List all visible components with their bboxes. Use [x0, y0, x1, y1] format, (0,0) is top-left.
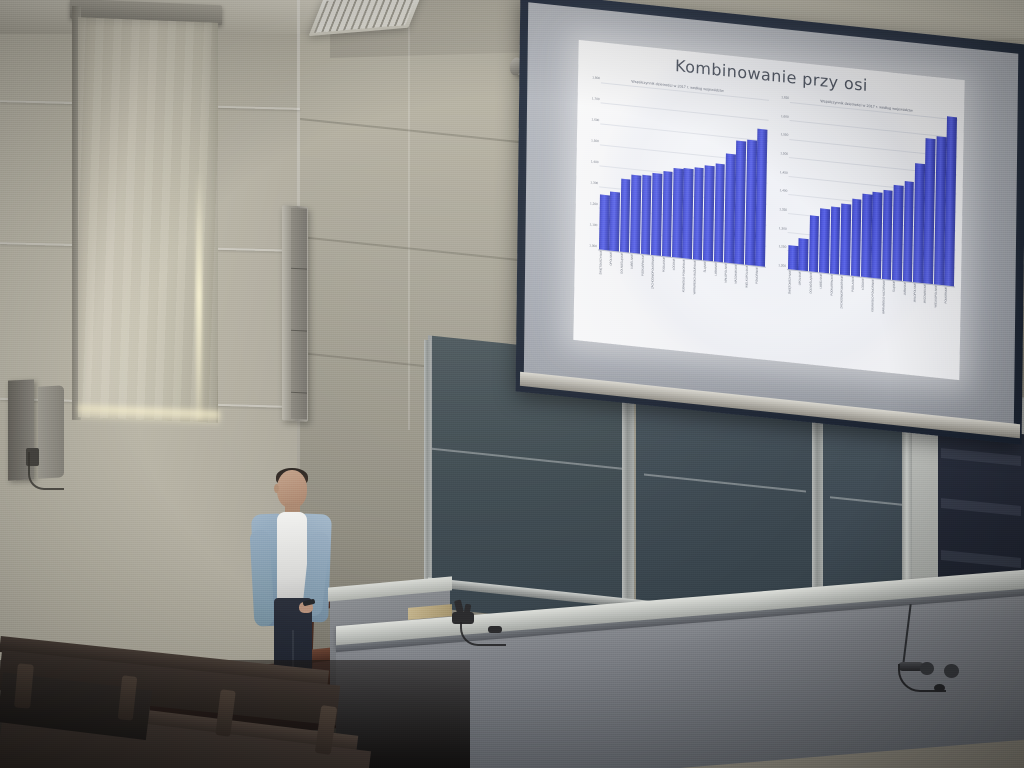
x-tick-label: ŁÓDZKIE	[671, 258, 682, 317]
bar	[755, 129, 767, 267]
presenter-ear	[274, 484, 279, 493]
chart-left-bars	[598, 82, 769, 266]
bar	[693, 167, 704, 260]
x-tick-label: MAŁOPOLSKIE	[723, 263, 734, 322]
x-tick-label: PODKARPACKIE	[829, 274, 840, 333]
bar	[830, 207, 841, 275]
bar	[788, 245, 798, 270]
x-tick-label: MAZOWIECKIE	[733, 265, 744, 324]
y-tick-label: 1,550	[781, 132, 789, 137]
x-tick-label: KUJAWSKO-POMORSKIE	[681, 259, 692, 318]
y-tick-label: 1,100	[590, 222, 598, 227]
window-light-glow	[196, 170, 202, 420]
lecture-hall-photo: Kombinowanie przy osi Współczynnik dziet…	[0, 0, 1024, 768]
bar	[798, 239, 808, 272]
x-tick-label: ŁÓDZKIE	[860, 278, 871, 337]
x-tick-label: PODLASKIE	[849, 277, 860, 336]
bar	[672, 168, 683, 258]
y-tick-label: 1,400	[591, 159, 599, 164]
x-tick-label: MAŁOPOLSKIE	[912, 283, 923, 342]
x-tick-label: MAZOWIECKIE	[922, 284, 933, 343]
x-tick-label: OPOLSKIE	[797, 271, 808, 330]
x-tick-label: WARMIŃSKO-MAZURSKIE	[692, 260, 703, 319]
y-tick-label: 1,600	[592, 117, 600, 122]
y-tick-label: 1,500	[591, 138, 599, 143]
x-tick-label: PODLASKIE	[660, 257, 671, 316]
x-tick-label: ŚLĄSKIE	[891, 281, 902, 340]
bar	[892, 185, 903, 281]
x-tick-label: WIELKOPOLSKIE	[933, 285, 944, 344]
y-tick-label: 1,600	[781, 114, 789, 119]
x-tick-label: WARMIŃSKO-MAZURSKIE	[881, 280, 892, 339]
x-tick-label: LUBELSKIE	[629, 254, 640, 313]
y-tick-label: 1,700	[592, 96, 600, 101]
x-tick-label: ŚWIĘTOKRZYSKIE	[598, 250, 609, 309]
chart-left-plot	[598, 82, 769, 267]
x-tick-label: ZACHODNIOPOMORSKIE	[650, 256, 661, 315]
wall-speaker	[282, 205, 308, 421]
y-tick-label: 1,300	[779, 226, 787, 231]
bar	[620, 179, 631, 253]
bar	[809, 216, 820, 273]
chart-right: Współczynnik dzietności w 2017 r. według…	[771, 94, 958, 345]
x-tick-label: LUBUSKIE	[902, 282, 913, 341]
y-tick-label: 1,500	[780, 151, 788, 156]
bar	[871, 192, 882, 279]
x-tick-label: POMORSKIE	[754, 267, 765, 326]
bar	[944, 116, 957, 286]
x-tick-label: ZACHODNIOPOMORSKIE	[839, 275, 850, 334]
y-tick-label: 1,400	[780, 188, 788, 193]
bar	[651, 173, 662, 256]
slide-charts: Współczynnik dzietności w 2017 r. według…	[582, 75, 958, 346]
desk-object	[944, 664, 959, 678]
x-tick-label: WIELKOPOLSKIE	[744, 266, 755, 325]
bar	[609, 191, 620, 251]
x-tick-label: OPOLSKIE	[608, 252, 619, 311]
y-tick-label: 1,250	[779, 244, 787, 249]
bar	[819, 209, 830, 274]
projected-slide: Kombinowanie przy osi Współczynnik dziet…	[573, 40, 964, 380]
x-tick-label: PODKARPACKIE	[640, 255, 651, 314]
x-tick-label: POMORSKIE	[943, 286, 954, 345]
x-tick-label: DOLNOŚLĄSKIE	[619, 253, 630, 312]
bar	[630, 175, 641, 254]
bar	[861, 193, 872, 278]
bar	[840, 203, 851, 275]
y-tick-label: 1,800	[592, 75, 600, 80]
x-tick-label: DOLNOŚLĄSKIE	[808, 272, 819, 331]
microphone-capsule	[934, 684, 945, 692]
y-tick-label: 1,350	[779, 207, 787, 212]
y-tick-label: 1,200	[590, 201, 598, 206]
x-tick-label: ŚLĄSKIE	[702, 261, 713, 320]
bar	[682, 168, 693, 259]
x-tick-label: LUBELSKIE	[818, 273, 829, 332]
desk-object	[920, 662, 934, 675]
x-tick-label: ŚWIĘTOKRZYSKIE	[787, 270, 798, 329]
y-tick-label: 1,650	[781, 95, 789, 100]
speaker-cable	[28, 452, 64, 490]
presenter-tshirt	[277, 512, 307, 604]
bar	[641, 174, 652, 254]
chart-left: Współczynnik dzietności w 2017 r. według…	[582, 75, 769, 326]
y-tick-label: 1,200	[778, 263, 786, 268]
bar	[851, 198, 862, 276]
x-tick-label: LUBUSKIE	[713, 262, 724, 321]
chart-right-plot	[787, 102, 958, 287]
y-tick-label: 1,000	[589, 243, 597, 248]
y-tick-label: 1,450	[780, 170, 788, 175]
desk-device	[488, 626, 502, 633]
bar	[599, 194, 610, 250]
y-tick-label: 1,300	[590, 180, 598, 185]
chart-right-bars	[787, 102, 958, 286]
bar	[662, 171, 673, 257]
bar	[882, 190, 893, 280]
x-tick-label: KUJAWSKO-POMORSKIE	[870, 279, 881, 338]
bar	[703, 165, 714, 261]
chalkboard-frame-post	[424, 340, 431, 617]
